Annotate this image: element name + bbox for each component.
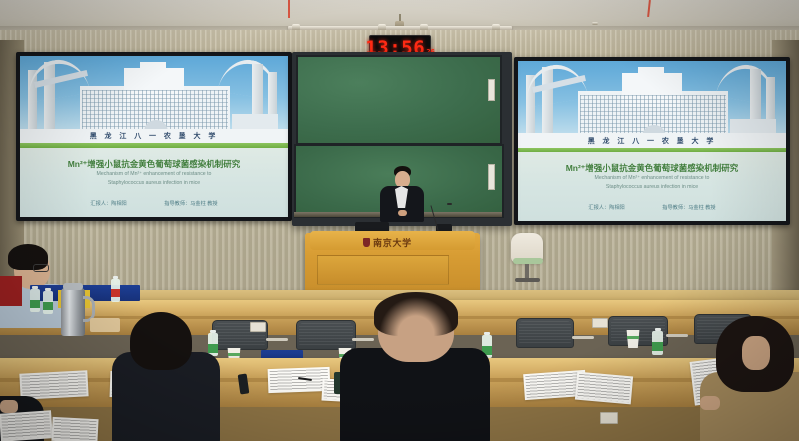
presenter-label-left: 汇报人：陶相阳: [90, 200, 126, 207]
power-outlet-2[interactable]: [592, 318, 608, 328]
slide-subtitle-line2-right: Staphylococcus aureus infection in mice: [518, 184, 786, 190]
snack-box-red: [0, 276, 22, 306]
power-outlet-3[interactable]: [600, 412, 618, 424]
campus-building-tower2: [140, 62, 166, 78]
audience-chair-2-back: [296, 320, 356, 350]
stage-chair-base: [515, 278, 540, 282]
lectern-emblem-group: 南京大学: [363, 236, 412, 249]
chair-mesh-2: [299, 323, 353, 347]
paper-stack-center[interactable]: [268, 367, 331, 393]
paper-stack-center-text: [270, 369, 329, 391]
slide-left-textarea: Mn²⁺增强小鼠抗金黄色葡萄球菌感染机制研究 Mechanism of Mn²⁺…: [20, 148, 288, 217]
presenter-hands: [398, 210, 407, 216]
lectern-front-panel: [317, 255, 449, 285]
slide-right: 黑 龙 江 八 一 农 垦 大 学 Mn²⁺增强小鼠抗金黄色葡萄球菌感染机制研究…: [518, 61, 786, 221]
power-outlet-1[interactable]: [250, 322, 266, 332]
chair-arm-3: [572, 336, 594, 339]
thermos-flask[interactable]: [61, 288, 85, 336]
water-bottle-1[interactable]: [111, 276, 120, 302]
water-bottle-2[interactable]: [30, 286, 40, 312]
chair-arm-4: [666, 334, 688, 337]
chalkboard-upper-panel: [296, 55, 502, 145]
presenter: [376, 166, 428, 226]
slide-credits-left: 汇报人：陶相阳 指导教师：马金柱 教授: [20, 200, 288, 207]
water-bottle-3[interactable]: [43, 288, 53, 314]
stage-chair-post: [525, 264, 529, 279]
audience-person-center-hair: [374, 292, 458, 336]
slide-subtitle-line2-left: Staphylococcus aureus infection in mice: [20, 180, 288, 186]
bottle-label-3: [43, 302, 53, 310]
paper-edge-left[interactable]: [0, 410, 53, 441]
slide-subtitle-line1-right: Mechanism of Mn²⁺ enhancement of resista…: [518, 175, 786, 181]
campus-building-tower2-r: [638, 67, 664, 83]
slide-title-left: Mn²⁺增强小鼠抗金黄色葡萄球菌感染机制研究: [20, 158, 288, 170]
snack-bag: [90, 318, 120, 332]
audience-chair-2[interactable]: [296, 320, 354, 350]
paper-document-4[interactable]: [575, 372, 633, 405]
paper-document-4-text: [577, 374, 631, 402]
chair-arm-2: [352, 338, 374, 341]
bottle-label-4: [208, 344, 218, 353]
audience-person-farleft-glasses: [33, 264, 49, 272]
water-bottle-4[interactable]: [208, 330, 218, 356]
presenter-label-right: 汇报人：陶相阳: [588, 204, 624, 211]
paper-stack-left-text: [21, 372, 86, 397]
audience-chair-3-back: [516, 318, 574, 348]
board-notice-card-lower: [488, 164, 495, 190]
left-projection-screen[interactable]: 黑 龙 江 八 一 农 垦 大 学 Mn²⁺增强小鼠抗金黄色葡萄球菌感染机制研究…: [16, 52, 292, 221]
paper-under-shelf-text: [54, 419, 97, 441]
slide-credits-right: 汇报人：陶相阳 指导教师：马金柱 教授: [518, 204, 786, 211]
audience-chair-3[interactable]: [516, 318, 572, 348]
slide-right-textarea: Mn²⁺增强小鼠抗金黄色葡萄球菌感染机制研究 Mechanism of Mn²⁺…: [518, 152, 786, 221]
ceiling-vent-right: [592, 22, 598, 25]
lecture-hall-photo: 13:56 26: [0, 0, 799, 441]
university-shield-icon: [363, 238, 370, 247]
water-bottle-6[interactable]: [652, 328, 663, 355]
right-projection-screen[interactable]: 黑 龙 江 八 一 农 垦 大 学 Mn²⁺增强小鼠抗金黄色葡萄球菌感染机制研究…: [514, 57, 790, 225]
slide-right-artwork: 黑 龙 江 八 一 农 垦 大 学: [518, 61, 786, 152]
stage-chair[interactable]: [505, 233, 551, 287]
slide-left-artwork: 黑 龙 江 八 一 农 垦 大 学: [20, 56, 288, 148]
right-screen-surface: 黑 龙 江 八 一 农 垦 大 学 Mn²⁺增强小鼠抗金黄色葡萄球菌感染机制研究…: [518, 61, 786, 221]
audience-person-right-hand: [700, 396, 720, 410]
bottle-label-2: [30, 300, 40, 308]
advisor-label-left: 指导教师：马金柱 教授: [164, 200, 217, 207]
audience-person-right-face: [742, 336, 770, 370]
microphone-head: [447, 203, 452, 205]
university-name-right: 黑 龙 江 八 一 农 垦 大 学: [518, 136, 786, 146]
advisor-label-right: 指导教师：马金柱 教授: [662, 204, 715, 211]
paper-under-shelf[interactable]: [51, 417, 98, 441]
left-screen-surface: 黑 龙 江 八 一 农 垦 大 学 Mn²⁺增强小鼠抗金黄色葡萄球菌感染机制研究…: [20, 56, 288, 217]
audience-person-left-head: [130, 312, 192, 370]
slide-title-right: Mn²⁺增强小鼠抗金黄色葡萄球菌感染机制研究: [518, 162, 786, 174]
slide-left: 黑 龙 江 八 一 农 垦 大 学 Mn²⁺增强小鼠抗金黄色葡萄球菌感染机制研究…: [20, 56, 288, 217]
ceiling-cable-left: [288, 0, 290, 18]
paper-stack-left[interactable]: [19, 370, 88, 400]
university-name-left: 黑 龙 江 八 一 农 垦 大 学: [20, 131, 288, 141]
paper-cup-3-band: [627, 336, 639, 339]
paper-edge-left-text: [1, 412, 51, 439]
audience-person-edge-hand: [0, 400, 18, 413]
board-notice-card-upper: [488, 79, 495, 101]
thermos-lid: [63, 283, 83, 290]
slide-subtitle-line1-left: Mechanism of Mn²⁺ enhancement of resista…: [20, 171, 288, 177]
lectern-university-text: 南京大学: [373, 236, 412, 249]
chair-mesh-3: [519, 321, 571, 345]
bottle-label-1: [111, 289, 120, 297]
paper-cup-1-band: [228, 353, 240, 356]
chair-arm-1: [266, 338, 288, 341]
bottle-label-6: [652, 342, 663, 351]
